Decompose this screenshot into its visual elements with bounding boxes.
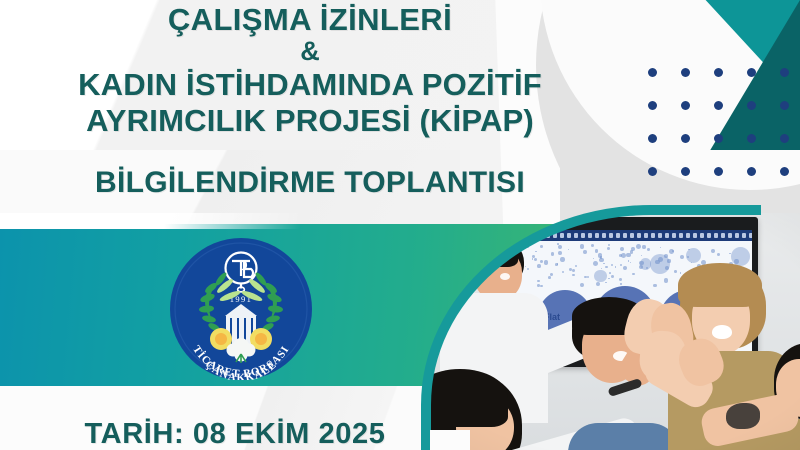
event-date: TARİH: 08 EKİM 2025	[0, 418, 470, 450]
headline-ampersand: &	[0, 36, 620, 68]
dot-2-3	[747, 134, 756, 143]
dot-1-4	[780, 101, 789, 110]
dot-2-0	[648, 134, 657, 143]
dot-1-3	[747, 101, 756, 110]
dot-grid-decoration	[648, 68, 800, 208]
dot-0-3	[747, 68, 756, 77]
dot-3-0	[648, 167, 657, 176]
band-top-highlight	[0, 213, 300, 229]
dot-1-0	[648, 101, 657, 110]
team-photo: Flat Work Business to digital world	[430, 213, 800, 450]
tattoo-mark	[726, 403, 760, 429]
chamber-logo: 1991	[170, 238, 312, 380]
dot-2-4	[780, 134, 789, 143]
dot-3-4	[780, 167, 789, 176]
dot-0-4	[780, 68, 789, 77]
dot-3-1	[681, 167, 690, 176]
poster-canvas: ÇALIŞMA İZİNLERİ & KADIN İSTİHDAMINDA PO…	[0, 0, 800, 450]
headline-line-2: KADIN İSTİHDAMINDA POZİTİF	[0, 67, 620, 102]
headline-block: ÇALIŞMA İZİNLERİ & KADIN İSTİHDAMINDA PO…	[0, 0, 620, 200]
dot-0-2	[714, 68, 723, 77]
dot-2-2	[714, 134, 723, 143]
headline-subtitle: BİLGİLENDİRME TOPLANTISI	[0, 166, 620, 200]
dot-2-1	[681, 134, 690, 143]
dot-1-2	[714, 101, 723, 110]
photo-image: Flat Work Business to digital world	[430, 213, 800, 450]
dot-3-3	[747, 167, 756, 176]
headline-line-3: AYRIMCILIK PROJESİ (KİPAP)	[0, 103, 620, 138]
dot-1-1	[681, 101, 690, 110]
screen-toolbar	[514, 230, 752, 241]
headline-line-1: ÇALIŞMA İZİNLERİ	[0, 4, 620, 36]
photo-bottom-mask	[430, 430, 470, 450]
dot-3-2	[714, 167, 723, 176]
logo-artwork: 1991	[170, 238, 312, 380]
dot-0-1	[681, 68, 690, 77]
dot-0-0	[648, 68, 657, 77]
